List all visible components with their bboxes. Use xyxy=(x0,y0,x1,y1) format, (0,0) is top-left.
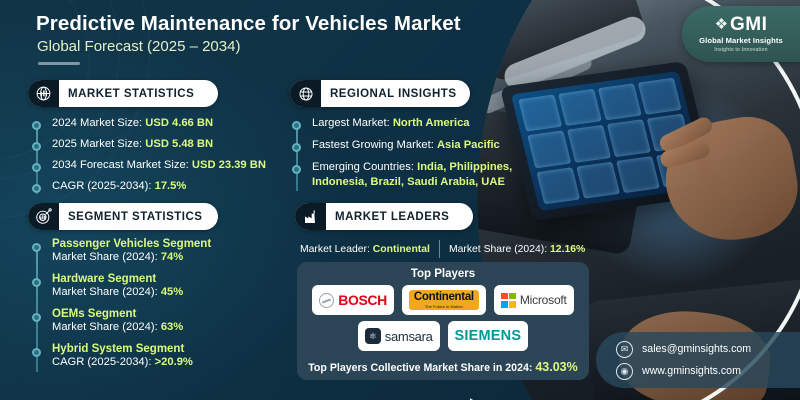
bosch-logo: BOSCH xyxy=(312,285,394,315)
bosch-mark-icon xyxy=(319,293,334,308)
section-label: SEGMENT STATISTICS xyxy=(68,211,202,223)
row-value: USD 5.48 BN xyxy=(145,138,213,150)
logo-row-1: BOSCH Continental The Future in Motion M… xyxy=(312,285,573,315)
timeline-dot xyxy=(32,121,41,130)
row-value: North America xyxy=(393,117,470,129)
collective-value: 43.03% xyxy=(535,360,577,374)
samsara-logo: ⚛ samsara xyxy=(358,321,440,351)
regional-insights-list: Largest Market: North America Fastest Gr… xyxy=(296,116,512,197)
microsoft-label: Microsoft xyxy=(520,293,567,307)
timeline-dot xyxy=(32,313,41,322)
contact-panel: ✉ sales@gminsights.com ◉ www.gminsights.… xyxy=(596,332,800,388)
list-item: CAGR (2025-2034): 17.5% xyxy=(36,179,266,194)
segment-heading: Passenger Vehicles Segment xyxy=(52,238,211,250)
list-item: OEMs Segment Market Share (2024): 63% xyxy=(36,308,211,334)
top-players-panel: Top Players BOSCH Continental The Future… xyxy=(297,262,589,380)
list-item: 2034 Forecast Market Size: USD 23.39 BN xyxy=(36,158,266,173)
samsara-mark-icon: ⚛ xyxy=(365,328,381,344)
row-value: USD 23.39 BN xyxy=(192,159,266,171)
contact-email-row[interactable]: ✉ sales@gminsights.com xyxy=(616,341,800,358)
row-value: >20.9% xyxy=(155,356,193,368)
list-item: Passenger Vehicles Segment Market Share … xyxy=(36,238,211,264)
row-label: CAGR (2025-2034): xyxy=(52,180,155,192)
section-header-market-statistics: MARKET STATISTICS xyxy=(28,80,218,107)
segment-heading: Hardware Segment xyxy=(52,273,211,285)
timeline-dot xyxy=(292,121,301,130)
segment-heading: OEMs Segment xyxy=(52,308,211,320)
microsoft-logo: Microsoft xyxy=(494,285,574,315)
section-label: REGIONAL INSIGHTS xyxy=(330,88,457,100)
globe-chart-icon xyxy=(28,80,59,107)
bosch-label: BOSCH xyxy=(338,292,387,308)
timeline-dot xyxy=(32,163,41,172)
microsoft-squares-icon xyxy=(501,293,516,308)
row-label: 2025 Market Size: xyxy=(52,138,145,150)
share-value: 12.16% xyxy=(550,244,585,255)
samsara-label: samsara xyxy=(385,329,433,344)
market-statistics-list: 2024 Market Size: USD 4.66 BN 2025 Marke… xyxy=(36,116,266,200)
list-item: 2025 Market Size: USD 5.48 BN xyxy=(36,137,266,152)
row-value: USD 4.66 BN xyxy=(145,117,213,129)
row-label: 2034 Forecast Market Size: xyxy=(52,159,192,171)
page-title: Predictive Maintenance for Vehicles Mark… xyxy=(36,12,461,36)
infographic-canvas: Predictive Maintenance for Vehicles Mark… xyxy=(0,0,800,400)
row-label: Market Share (2024): xyxy=(52,321,161,333)
collective-label: Top Players Collective Market Share in 2… xyxy=(308,362,535,374)
list-item: Hybrid System Segment CAGR (2025-2034): … xyxy=(36,343,211,369)
gmi-logo: ❖ GMI Global Market Insights Insights to… xyxy=(682,6,800,62)
section-header-market-leaders: MARKET LEADERS xyxy=(295,203,473,230)
timeline-dot xyxy=(32,278,41,287)
page-subtitle: Global Forecast (2025 – 2034) xyxy=(37,38,240,55)
section-label: MARKET STATISTICS xyxy=(68,88,194,100)
list-item: Hardware Segment Market Share (2024): 45… xyxy=(36,273,211,299)
contact-email[interactable]: sales@gminsights.com xyxy=(642,343,751,355)
factory-icon xyxy=(295,203,326,230)
list-item: 2024 Market Size: USD 4.66 BN xyxy=(36,116,266,131)
siemens-label: SIEMENS xyxy=(455,328,522,344)
continental-label: Continental xyxy=(414,292,474,304)
timeline-dot xyxy=(32,348,41,357)
row-label: Market Share (2024): xyxy=(52,251,161,263)
row-label: 2024 Market Size: xyxy=(52,117,145,129)
market-leader-row: Market Leader: Continental Market Share … xyxy=(300,240,588,258)
row-value: 74% xyxy=(161,251,183,263)
divider xyxy=(439,240,440,258)
siemens-logo: SIEMENS xyxy=(448,321,529,351)
timeline-dot xyxy=(32,184,41,193)
gmi-name: GMI xyxy=(730,15,767,34)
section-header-segment-statistics: SEGMENT STATISTICS xyxy=(28,203,218,230)
continental-logo: Continental The Future in Motion xyxy=(402,285,486,315)
target-chart-icon xyxy=(28,203,59,230)
segment-statistics-list: Passenger Vehicles Segment Market Share … xyxy=(36,238,211,378)
leader-value: Continental xyxy=(373,244,430,255)
row-label: Market Share (2024): xyxy=(52,286,161,298)
timeline-dot xyxy=(292,165,301,174)
share-label: Market Share (2024): xyxy=(449,244,550,255)
top-players-title: Top Players xyxy=(411,268,475,280)
row-label: Largest Market: xyxy=(312,117,393,129)
timeline-dot xyxy=(32,243,41,252)
row-value: 45% xyxy=(161,286,183,298)
section-label: MARKET LEADERS xyxy=(335,211,449,223)
timeline-dot xyxy=(32,142,41,151)
timeline-dot xyxy=(292,143,301,152)
row-label: Emerging Countries: xyxy=(312,161,417,173)
row-value: India, Philippines, xyxy=(417,161,512,173)
gmi-mark-icon: ❖ xyxy=(715,17,728,32)
row-value: 63% xyxy=(161,321,183,333)
logo-row-2: ⚛ samsara SIEMENS xyxy=(358,321,528,351)
envelope-icon: ✉ xyxy=(616,341,633,358)
continental-tagline: The Future in Motion xyxy=(425,305,463,309)
contact-website[interactable]: www.gminsights.com xyxy=(642,365,741,377)
title-underline xyxy=(38,62,80,65)
segment-heading: Hybrid System Segment xyxy=(52,343,211,355)
row-value: 17.5% xyxy=(155,180,187,192)
row-label: CAGR (2025-2034): xyxy=(52,356,155,368)
gmi-tagline: Insights to Innovation xyxy=(714,47,767,53)
gmi-subtitle: Global Market Insights xyxy=(699,36,783,45)
list-item: Emerging Countries: India, Philippines, … xyxy=(296,160,512,190)
row-value: Asia Pacific xyxy=(437,139,500,151)
row-value-continued: Indonesia, Brazil, Saudi Arabia, UAE xyxy=(312,176,505,188)
globe-icon: ◉ xyxy=(616,363,633,380)
contact-website-row[interactable]: ◉ www.gminsights.com xyxy=(616,363,800,380)
leader-label: Market Leader: xyxy=(300,244,373,255)
collective-share: Top Players Collective Market Share in 2… xyxy=(308,360,577,374)
list-item: Largest Market: North America xyxy=(296,116,512,131)
section-header-regional-insights: REGIONAL INSIGHTS xyxy=(290,80,470,107)
row-label: Fastest Growing Market: xyxy=(312,139,437,151)
globe-icon xyxy=(290,80,321,107)
list-item: Fastest Growing Market: Asia Pacific xyxy=(296,138,512,153)
